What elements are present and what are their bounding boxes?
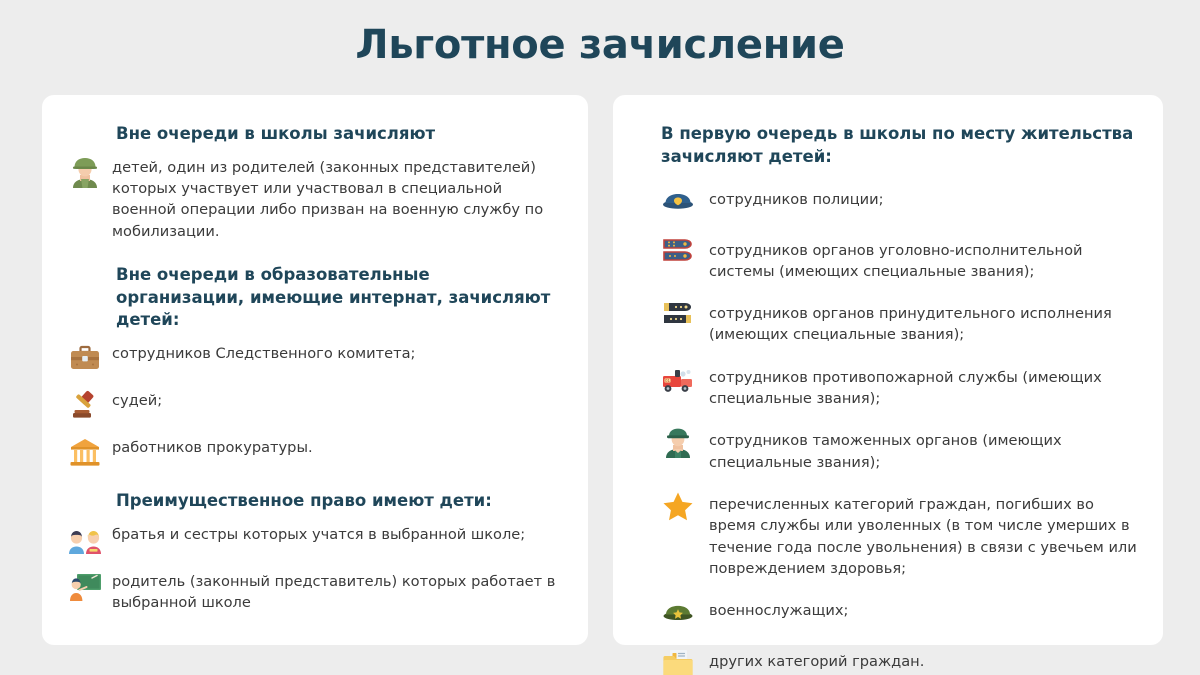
section-heading: Вне очереди в образовательные организаци… xyxy=(116,264,562,332)
list-item: сотрудников Следственного комитета; xyxy=(68,342,562,376)
list-item: сотрудников таможенных органов (имеющих … xyxy=(661,426,1137,473)
section-heading: Вне очереди в школы зачисляют xyxy=(116,123,562,146)
soldier-icon xyxy=(68,156,102,190)
section-heading: В первую очередь в школы по месту житель… xyxy=(661,123,1137,169)
list-item: судей; xyxy=(68,389,562,423)
military-cap-icon xyxy=(661,596,695,630)
section-out-of-turn-schools: Вне очереди в школы зачисляют детей, оди… xyxy=(68,123,562,242)
list-item-text: других категорий граждан. xyxy=(709,647,924,672)
page-title: Льготное зачисление xyxy=(0,22,1200,68)
list-item: сотрудников органов уголовно-исполнитель… xyxy=(661,236,1137,283)
list-item-text: сотрудников органов уголовно-исполнитель… xyxy=(709,236,1137,283)
epaulette-blue-icon xyxy=(661,236,695,270)
list-item: работников прокуратуры. xyxy=(68,436,562,470)
list-item: сотрудников органов принудительного испо… xyxy=(661,299,1137,346)
list-item: братья и сестры которых учатся в выбранн… xyxy=(68,523,562,557)
gavel-icon xyxy=(68,389,102,423)
courthouse-icon xyxy=(68,436,102,470)
list-item: детей, один из родителей (законных предс… xyxy=(68,156,562,242)
list-item-text: военнослужащих; xyxy=(709,596,848,621)
teacher-icon xyxy=(68,570,102,604)
list-item-text: перечисленных категорий граждан, погибши… xyxy=(709,490,1137,579)
list-item-text: братья и сестры которых учатся в выбранн… xyxy=(112,523,525,545)
list-item: других категорий граждан. xyxy=(661,647,1137,675)
list-item: военнослужащих; xyxy=(661,596,1137,630)
section-boarding-organizations: Вне очереди в образовательные организаци… xyxy=(68,264,562,470)
list-item: сотрудников полиции; xyxy=(661,185,1137,219)
fire-truck-icon: 01 xyxy=(661,363,695,397)
list-item-text: сотрудников противопожарной службы (имею… xyxy=(709,363,1137,410)
epaulette-dark-icon xyxy=(661,299,695,333)
list-item-text: сотрудников полиции; xyxy=(709,185,884,210)
list-item: родитель (законный представитель) которы… xyxy=(68,570,562,614)
list-item: 01 сотрудников противопожарной службы (и… xyxy=(661,363,1137,410)
left-card: Вне очереди в школы зачисляют детей, оди… xyxy=(42,95,588,645)
star-icon xyxy=(661,490,695,524)
section-heading: Преимущественное право имеют дети: xyxy=(116,490,562,513)
section-priority-right: Преимущественное право имеют дети: xyxy=(68,490,562,613)
list-item-text: сотрудников Следственного комитета; xyxy=(112,342,415,364)
siblings-icon xyxy=(68,523,102,557)
police-cap-icon xyxy=(661,185,695,219)
documents-folder-icon xyxy=(661,647,695,675)
briefcase-icon xyxy=(68,342,102,376)
list-item-text: работников прокуратуры. xyxy=(112,436,313,458)
svg-text:01: 01 xyxy=(665,378,670,383)
right-card: В первую очередь в школы по месту житель… xyxy=(613,95,1163,645)
list-item-text: судей; xyxy=(112,389,162,411)
infographic-page: Льготное зачисление Вне очереди в школы … xyxy=(0,0,1200,675)
list-item-text: сотрудников органов принудительного испо… xyxy=(709,299,1137,346)
list-item-text: детей, один из родителей (законных предс… xyxy=(112,156,562,242)
customs-officer-icon xyxy=(661,426,695,460)
list-item-text: родитель (законный представитель) которы… xyxy=(112,570,562,614)
list-item-text: сотрудников таможенных органов (имеющих … xyxy=(709,426,1137,473)
list-item: перечисленных категорий граждан, погибши… xyxy=(661,490,1137,579)
